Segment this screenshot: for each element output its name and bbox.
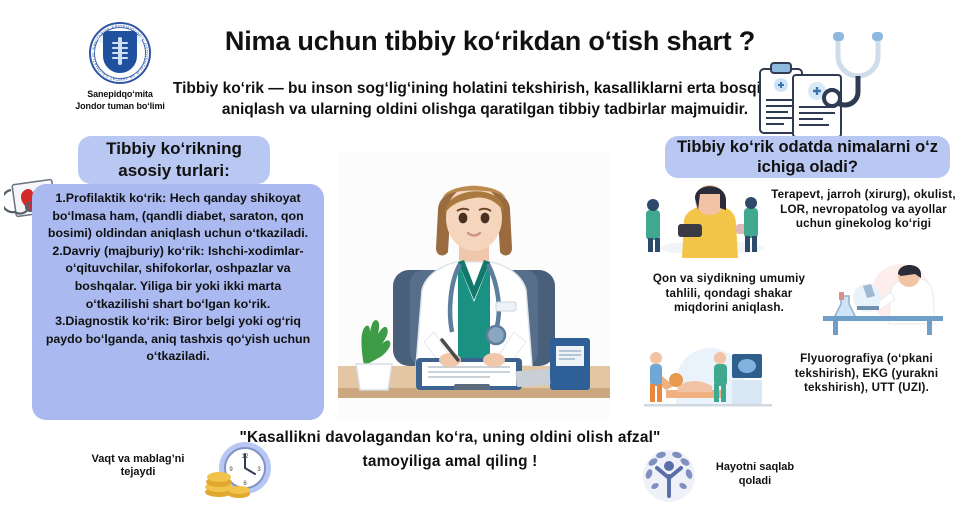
svg-text:12: 12	[242, 454, 249, 460]
poster-title: Nima uchun tibbiy ko‘rikdan o‘tish shart…	[180, 26, 800, 57]
right-row-3-text: Flyuorografiya (o‘pkani tekshirish), EKG…	[776, 352, 957, 396]
right-row-imaging: Flyuorografiya (o‘pkani tekshirish), EKG…	[640, 338, 957, 414]
money-saving-label: Vaqt va mablag’ni tejaydi	[78, 453, 198, 479]
poster-intro-text: Tibbiy ko‘rik — bu inson sog‘lig‘ining h…	[165, 78, 805, 120]
exam-type-item-3: 3.Diagnostik ko‘rik: Biror belgi yoki og…	[42, 313, 314, 366]
lab-microscope-illustration	[815, 262, 957, 336]
right-row-specialists: Terapevt, jarroh (xirurg), okulist, LOR,…	[640, 180, 957, 258]
right-row-2-text: Qon va siydikning umumiy tahlili, qondag…	[640, 272, 818, 316]
right-row-1-text: Terapevt, jarroh (xirurg), okulist, LOR,…	[770, 188, 957, 232]
right-section-header-pill: Tibbiy ko‘rik odatda nimalarni o‘z ichig…	[665, 136, 950, 178]
stethoscope-icon	[820, 28, 912, 128]
exam-type-item-1: 1.Profilaktik ko‘rik: Hech qanday shikoy…	[42, 190, 314, 243]
sanepidqomita-emblem-icon: SANITARIYA-EPIDEMIOLOGIK OSOYISHTALIK VA…	[89, 22, 151, 84]
poster-canvas: SANITARIYA-EPIDEMIOLOGIK OSOYISHTALIK VA…	[0, 0, 957, 520]
blood-pressure-check-illustration	[640, 180, 770, 258]
xray-examination-illustration	[640, 338, 778, 414]
female-doctor-illustration	[338, 152, 610, 420]
coins-and-clock-icon: 12 9 3 6	[195, 440, 275, 500]
person-tree-icon	[633, 442, 705, 504]
poster-quote: "Kasallikni davolagandan ko‘ra, uning ol…	[215, 426, 685, 474]
exam-type-item-2: 2.Davriy (majburiy) ko‘rik: Ishchi-xodim…	[42, 243, 314, 313]
life-saving-label: Hayotni saqlab qoladi	[700, 460, 810, 488]
exam-types-panel: 1.Profilaktik ko‘rik: Hech qanday shikoy…	[32, 184, 324, 420]
right-row-lab-tests: Qon va siydikning umumiy tahlili, qondag…	[640, 262, 957, 336]
left-section-header-pill: Tibbiy ko‘rikning asosiy turlari:	[78, 136, 270, 184]
